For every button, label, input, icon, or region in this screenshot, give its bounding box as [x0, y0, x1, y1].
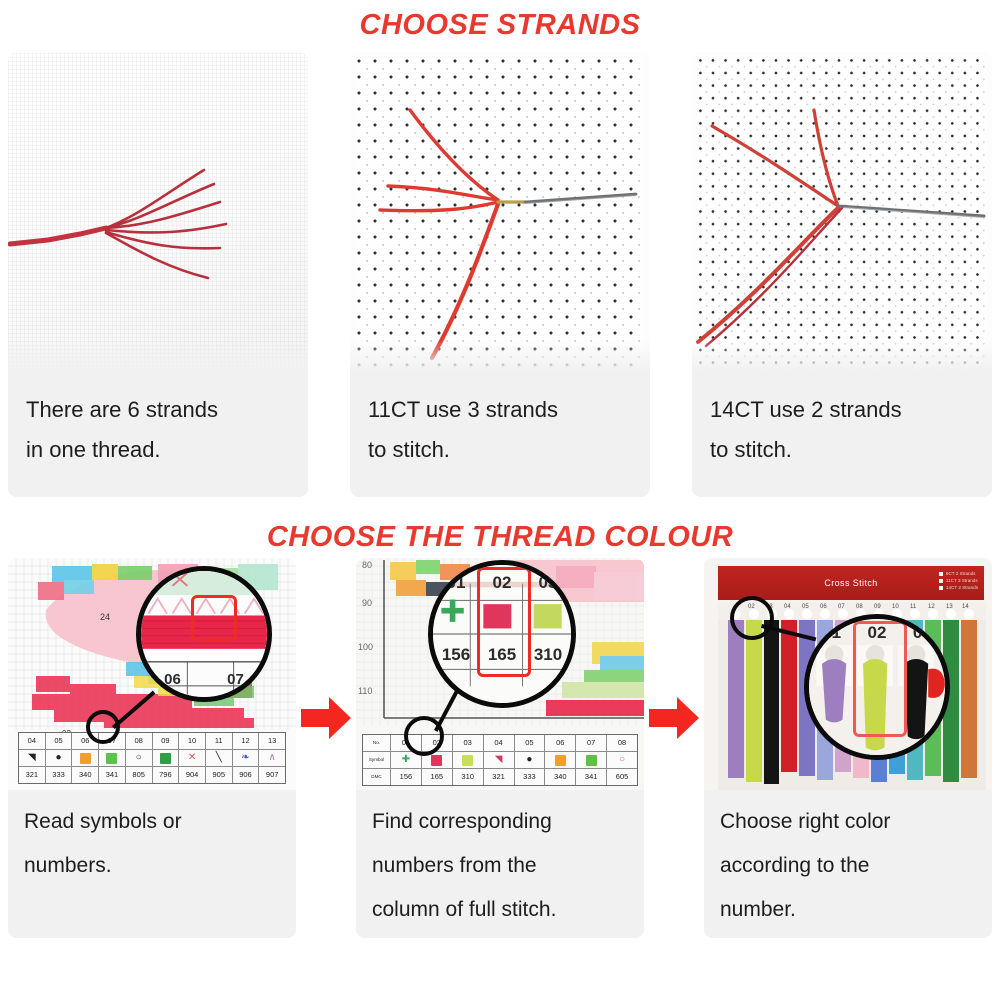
caption-line: 14CT use 2 strands	[710, 390, 978, 430]
magnified-highlight-box	[191, 595, 237, 641]
legend-symbol-triangle-icon: ◥	[19, 750, 45, 767]
key-column: 07 341	[576, 735, 607, 785]
board-legend-item: 9CT 2 Strands	[939, 571, 978, 576]
legend-code: 333	[46, 767, 72, 783]
magnified-code: 310	[525, 645, 571, 665]
magnified-highlight-box	[477, 567, 531, 677]
caption-line: Choose right color	[720, 800, 982, 844]
key-number: 04	[484, 735, 514, 752]
key-row-labels: No. Symbol DMC	[363, 735, 391, 785]
skein-number: 07	[838, 604, 845, 610]
skein-number: 08	[856, 604, 863, 610]
magnifier-lens: 06 07	[136, 566, 272, 702]
legend-symbol-slash-icon: ╲	[206, 750, 232, 767]
legend-swatch-icon	[939, 572, 943, 576]
card-read-symbols: 24 02 04 ◥ 321 05 ● 333	[8, 558, 296, 938]
photo-fade	[692, 340, 992, 374]
legend-symbol-square-icon	[72, 750, 98, 767]
arrow-right-icon-1	[299, 694, 353, 742]
skein-number: 06	[820, 604, 827, 610]
legend-number: 11	[206, 733, 232, 750]
skein-number: 10	[892, 604, 899, 610]
photo-14ct-needle	[692, 52, 992, 374]
caption-line: numbers.	[24, 844, 286, 888]
card-14ct-two-strands: 14CT use 2 strands to stitch.	[692, 52, 992, 497]
legend-column: 05 ● 333	[46, 733, 73, 783]
key-code: 310	[453, 769, 483, 785]
key-number: 03	[453, 735, 483, 752]
legend-code: 906	[233, 767, 259, 783]
skein-number: 11	[910, 604, 916, 610]
magnified-number: 01	[433, 573, 479, 593]
skein-number: 05	[802, 604, 809, 610]
photo-fade	[350, 340, 650, 374]
legend-code: 340	[72, 767, 98, 783]
svg-text:80: 80	[362, 560, 372, 570]
thread-key-table: No. Symbol DMC 01 ✚ 156 02 165	[362, 734, 638, 786]
key-column: 04 ◥ 321	[484, 735, 515, 785]
board-legend-label: 11CT 3 Strands	[946, 578, 978, 583]
key-symbol-filled-square-icon	[453, 752, 483, 769]
magnified-cell: 07	[204, 671, 267, 688]
caption-line: in one thread.	[26, 430, 294, 470]
caption-line: Read symbols or	[24, 800, 286, 844]
legend-code: 796	[153, 767, 179, 783]
key-column: 06 340	[545, 735, 576, 785]
skein-number: 12	[928, 604, 935, 610]
caption-line: Find corresponding	[372, 800, 634, 844]
legend-number: 05	[46, 733, 72, 750]
legend-symbol-circle-icon: ○	[126, 750, 152, 767]
key-column: 03 310	[453, 735, 484, 785]
legend-column: 13 ∧ 907	[259, 733, 285, 783]
magnified-number: 03	[525, 573, 571, 593]
caption-line: to stitch.	[710, 430, 978, 470]
legend-column: 12 ❧ 906	[233, 733, 260, 783]
legend-code: 805	[126, 767, 152, 783]
caption-find-numbers: Find corresponding numbers from the colu…	[356, 790, 644, 938]
magnified-skein-number: 01	[809, 623, 854, 643]
board-legend: 9CT 2 Strands 11CT 3 Strands 14CT 2 Stra…	[939, 571, 978, 590]
key-number: 06	[545, 735, 575, 752]
legend-swatch-icon	[939, 579, 943, 583]
skein-number: 13	[946, 604, 953, 610]
legend-swatch-icon	[939, 586, 943, 590]
caption-line: to stitch.	[368, 430, 636, 470]
legend-symbol-caret-icon: ∧	[259, 750, 285, 767]
organizer-banner: Cross Stitch 9CT 2 Strands 11CT 3 Strand…	[718, 566, 984, 600]
legend-symbol-square-icon	[153, 750, 179, 767]
board-legend-item: 11CT 3 Strands	[939, 578, 978, 583]
photo-six-strands	[8, 52, 308, 374]
section-title-choose-thread-colour: CHOOSE THE THREAD COLOUR	[0, 502, 1000, 558]
arrow-right-icon-2	[647, 694, 701, 742]
key-code: 321	[484, 769, 514, 785]
photo-fade	[8, 340, 308, 374]
legend-symbol-leaf-icon: ❧	[233, 750, 259, 767]
symbol-legend-table: 04 ◥ 321 05 ● 333 06 340	[18, 732, 286, 784]
legend-column: 10 ✕ 904	[179, 733, 206, 783]
legend-number: 08	[126, 733, 152, 750]
magnifier-lens: 01 02 03	[804, 614, 950, 760]
key-symbol-circle-icon: ○	[607, 752, 637, 769]
legend-code: 341	[99, 767, 125, 783]
key-code: 341	[576, 769, 606, 785]
key-symbol-filled-square-icon	[545, 752, 575, 769]
caption-line: number.	[720, 888, 982, 932]
legend-symbol-dot-icon: ●	[46, 750, 72, 767]
magnified-cell: 06	[141, 671, 204, 688]
caption-line: column of full stitch.	[372, 888, 634, 932]
key-symbol-filled-square-icon	[576, 752, 606, 769]
board-title: Cross Stitch	[824, 578, 877, 588]
card-choose-color: Cross Stitch 9CT 2 Strands 11CT 3 Strand…	[704, 558, 992, 938]
colour-card-row: 24 02 04 ◥ 321 05 ● 333	[0, 558, 1000, 948]
section-title-choose-strands: CHOOSE STRANDS	[0, 0, 1000, 52]
svg-text:90: 90	[362, 598, 372, 608]
legend-symbol-cross-icon: ✕	[179, 750, 205, 767]
key-code: 340	[545, 769, 575, 785]
magnified-cell-numbers: 06 07	[141, 671, 267, 688]
board-legend-label: 14CT 2 Strands	[946, 585, 978, 590]
skein-number: 04	[784, 604, 791, 610]
board-legend-item: 14CT 2 Strands	[939, 585, 978, 590]
key-code: 605	[607, 769, 637, 785]
skein-number: 09	[874, 604, 881, 610]
infographic-page: CHOOSE STRANDS	[0, 0, 1000, 1000]
legend-symbol-square-icon	[99, 750, 125, 767]
svg-text:100: 100	[358, 642, 373, 652]
photo-pattern-symbols: 24 02 04 ◥ 321 05 ● 333	[8, 558, 296, 790]
legend-number: 13	[259, 733, 285, 750]
key-symbol-triangle-icon: ◥	[484, 752, 514, 769]
caption-six-strands: There are 6 strands in one thread.	[8, 374, 308, 478]
caption-line: 11CT use 3 strands	[368, 390, 636, 430]
svg-text:110: 110	[358, 686, 372, 696]
legend-number: 09	[153, 733, 179, 750]
legend-column: 09 796	[153, 733, 180, 783]
skein-number: 14	[962, 604, 969, 610]
legend-code: 905	[206, 767, 232, 783]
magnified-highlight-box	[853, 621, 907, 737]
legend-column: 08 ○ 805	[126, 733, 153, 783]
legend-number: 12	[233, 733, 259, 750]
strands-card-row: There are 6 strands in one thread.	[0, 52, 1000, 502]
legend-column: 04 ◥ 321	[19, 733, 46, 783]
magnifier-lens: 01 02 03 156 165 310	[428, 560, 576, 708]
key-row-label: Symbol	[363, 752, 390, 769]
legend-number: 10	[179, 733, 205, 750]
caption-choose-color: Choose right color according to the numb…	[704, 790, 992, 938]
key-column: 05 ● 333	[515, 735, 546, 785]
magnified-code: 156	[433, 645, 479, 665]
key-code: 156	[391, 769, 421, 785]
board-legend-label: 9CT 2 Strands	[946, 571, 976, 576]
chart-cell-number: 24	[100, 612, 110, 622]
key-number: 08	[607, 735, 637, 752]
caption-11ct: 11CT use 3 strands to stitch.	[350, 374, 650, 478]
needle-three-strands-illustration	[350, 52, 650, 374]
key-row-label: DMC	[363, 769, 390, 785]
photo-11ct-needle	[350, 52, 650, 374]
needle-two-strands-illustration	[692, 52, 992, 374]
key-code: 333	[515, 769, 545, 785]
legend-code: 904	[179, 767, 205, 783]
key-code: 165	[422, 769, 452, 785]
card-find-numbers: 80 90 100 110 No. Symbol DMC 01	[356, 558, 644, 938]
key-symbol-dot-icon: ●	[515, 752, 545, 769]
legend-column: 11 ╲ 905	[206, 733, 233, 783]
legend-number: 04	[19, 733, 45, 750]
legend-code: 907	[259, 767, 285, 783]
key-number: 05	[515, 735, 545, 752]
magnifier-focus-circle	[730, 596, 774, 640]
photo-pattern-key: 80 90 100 110 No. Symbol DMC 01	[356, 558, 644, 790]
caption-14ct: 14CT use 2 strands to stitch.	[692, 374, 992, 478]
six-strand-floss-illustration	[8, 52, 308, 374]
caption-read-symbols: Read symbols or numbers.	[8, 790, 296, 894]
card-11ct-three-strands: 11CT use 3 strands to stitch.	[350, 52, 650, 497]
key-number: 07	[576, 735, 606, 752]
key-column: 08 ○ 605	[607, 735, 637, 785]
key-row-label: No.	[363, 735, 390, 752]
card-six-strands: There are 6 strands in one thread.	[8, 52, 308, 497]
caption-line: numbers from the	[372, 844, 634, 888]
photo-thread-organizer: Cross Stitch 9CT 2 Strands 11CT 3 Strand…	[704, 558, 992, 790]
caption-line: according to the	[720, 844, 982, 888]
legend-code: 321	[19, 767, 45, 783]
caption-line: There are 6 strands	[26, 390, 294, 430]
